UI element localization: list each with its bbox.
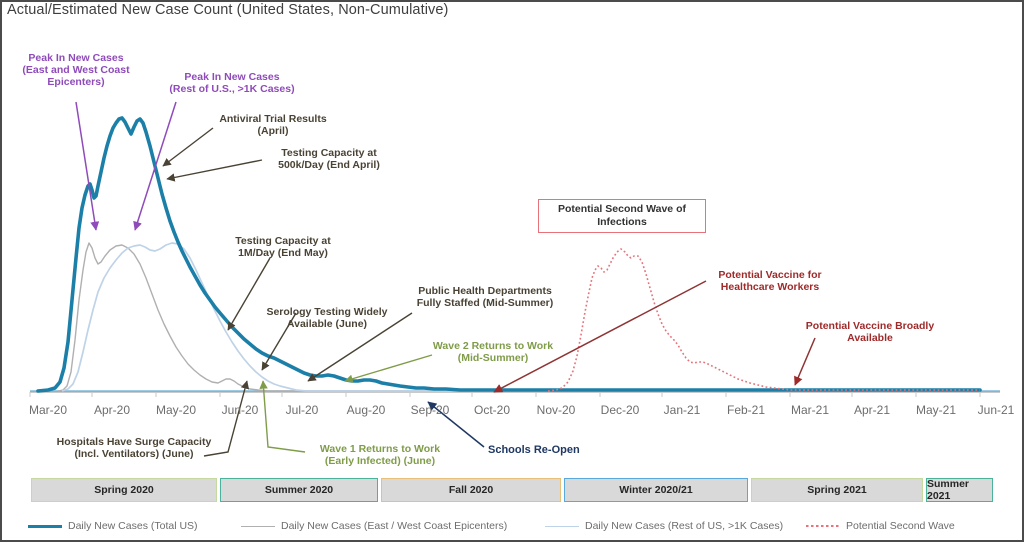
x-tick-label: May-20 <box>156 403 196 417</box>
annotation-vaccine-healthcare-workers: Potential Vaccine for Healthcare Workers <box>700 269 840 293</box>
legend-label: Potential Second Wave <box>846 520 955 532</box>
legend-item-potential-second-wave[interactable]: Potential Second Wave <box>806 520 955 532</box>
season-winter-2020-21[interactable]: Winter 2020/21 <box>564 478 748 502</box>
annotation-line: Antiviral Trial Results <box>203 113 343 125</box>
annotation-line: Available <box>795 332 945 344</box>
season-label: Summer 2021 <box>927 478 992 502</box>
legend-item-east-west-epicenters[interactable]: Daily New Cases (East / West Coast Epice… <box>241 520 507 532</box>
x-tick-label: Oct-20 <box>474 403 510 417</box>
x-tick-label: Feb-21 <box>727 403 765 417</box>
annotation-line: Hospitals Have Surge Capacity <box>38 436 230 448</box>
annotation-line: Potential Vaccine Broadly <box>795 320 945 332</box>
annotation-wave-1-returns-to-work: Wave 1 Returns to Work (Early Infected) … <box>305 443 455 467</box>
x-tick-label: Apr-20 <box>94 403 130 417</box>
chart-legend: Daily New Cases (Total US) Daily New Cas… <box>28 520 1003 540</box>
legend-swatch-rest-of-us-icon <box>545 526 579 527</box>
annotation-line: Public Health Departments <box>405 285 565 297</box>
x-tick-label: Jun-21 <box>978 403 1015 417</box>
annotation-public-health-departments: Public Health Departments Fully Staffed … <box>405 285 565 309</box>
annotation-line: (East and West Coast <box>6 64 146 76</box>
annotation-line: Healthcare Workers <box>700 281 840 293</box>
season-label: Winter 2020/21 <box>619 484 692 496</box>
season-label: Fall 2020 <box>449 484 493 496</box>
annotation-line: Potential Vaccine for <box>700 269 840 281</box>
annotation-line: (Incl. Ventilators) (June) <box>38 448 230 460</box>
legend-item-rest-of-us[interactable]: Daily New Cases (Rest of US, >1K Cases) <box>545 520 783 532</box>
annotation-line: (Early Infected) (June) <box>305 455 455 467</box>
season-spring-2020[interactable]: Spring 2020 <box>31 478 217 502</box>
annotation-antiviral-trial: Antiviral Trial Results (April) <box>203 113 343 137</box>
annotation-line: Schools Re-Open <box>488 444 580 457</box>
x-tick-label: Mar-20 <box>29 403 67 417</box>
series-east-west-epicenters <box>58 243 980 391</box>
x-axis-tick-labels: Mar-20 Apr-20 May-20 Jun-20 Jul-20 Aug-2… <box>29 403 1015 417</box>
legend-swatch-total-us-icon <box>28 525 62 528</box>
annotation-line: Wave 2 Returns to Work <box>428 340 558 352</box>
annotation-testing-capacity-1m: Testing Capacity at 1M/Day (End May) <box>218 235 348 259</box>
season-spring-2021[interactable]: Spring 2021 <box>751 478 923 502</box>
legend-label: Daily New Cases (East / West Coast Epice… <box>281 520 507 532</box>
annotation-line: Serology Testing Widely <box>252 306 402 318</box>
legend-label: Daily New Cases (Rest of US, >1K Cases) <box>585 520 783 532</box>
x-axis-ticks <box>30 392 980 397</box>
season-summer-2021[interactable]: Summer 2021 <box>926 478 993 502</box>
x-tick-label: Aug-20 <box>347 403 386 417</box>
legend-swatch-east-west-icon <box>241 526 275 527</box>
season-label: Spring 2020 <box>94 484 154 496</box>
annotation-line: Epicenters) <box>6 76 146 88</box>
annotation-line: 1M/Day (End May) <box>218 247 348 259</box>
annotation-wave-2-returns-to-work: Wave 2 Returns to Work (Mid-Summer) <box>428 340 558 364</box>
callout-line-2: Infections <box>558 216 686 229</box>
annotation-peak-epicenters: Peak In New Cases (East and West Coast E… <box>6 52 146 89</box>
annotation-line: Peak In New Cases <box>152 71 312 83</box>
season-label: Summer 2020 <box>265 484 333 496</box>
season-bar: Spring 2020 Summer 2020 Fall 2020 Winter… <box>31 478 993 502</box>
annotation-line: Testing Capacity at <box>218 235 348 247</box>
annotation-testing-capacity-500k: Testing Capacity at 500k/Day (End April) <box>254 147 404 171</box>
annotation-line: Available (June) <box>252 318 402 330</box>
x-tick-label: Jul-20 <box>286 403 319 417</box>
annotation-line: (April) <box>203 125 343 137</box>
x-tick-label: Mar-21 <box>791 403 829 417</box>
x-tick-label: Jan-21 <box>664 403 701 417</box>
callout-line-1: Potential Second Wave of <box>558 203 686 216</box>
season-label: Spring 2021 <box>807 484 867 496</box>
annotation-line: (Mid-Summer) <box>428 352 558 364</box>
annotation-serology-testing: Serology Testing Widely Available (June) <box>252 306 402 330</box>
callout-potential-second-wave: Potential Second Wave of Infections <box>538 199 706 233</box>
x-tick-label: Nov-20 <box>537 403 576 417</box>
annotation-line: Peak In New Cases <box>6 52 146 64</box>
x-tick-label: Jun-20 <box>222 403 259 417</box>
chart-page: Actual/Estimated New Case Count (United … <box>0 0 1024 542</box>
series-rest-of-us <box>62 243 980 391</box>
legend-label: Daily New Cases (Total US) <box>68 520 198 532</box>
x-tick-label: Apr-21 <box>854 403 890 417</box>
x-tick-label: May-21 <box>916 403 956 417</box>
season-summer-2020[interactable]: Summer 2020 <box>220 478 378 502</box>
x-tick-label: Dec-20 <box>601 403 640 417</box>
annotation-hospitals-surge-capacity: Hospitals Have Surge Capacity (Incl. Ven… <box>38 436 230 460</box>
annotation-line: (Rest of U.S., >1K Cases) <box>152 83 312 95</box>
legend-swatch-second-wave-icon <box>806 525 840 527</box>
annotation-line: 500k/Day (End April) <box>254 159 404 171</box>
legend-item-total-us[interactable]: Daily New Cases (Total US) <box>28 520 198 532</box>
annotation-vaccine-broadly-available: Potential Vaccine Broadly Available <box>795 320 945 344</box>
annotation-line: Fully Staffed (Mid-Summer) <box>405 297 565 309</box>
annotation-line: Wave 1 Returns to Work <box>305 443 455 455</box>
x-tick-label: Sep-20 <box>411 403 450 417</box>
annotation-line: Testing Capacity at <box>254 147 404 159</box>
annotation-schools-reopen: Schools Re-Open <box>488 444 580 457</box>
annotation-peak-rest-us: Peak In New Cases (Rest of U.S., >1K Cas… <box>152 71 312 95</box>
season-fall-2020[interactable]: Fall 2020 <box>381 478 561 502</box>
